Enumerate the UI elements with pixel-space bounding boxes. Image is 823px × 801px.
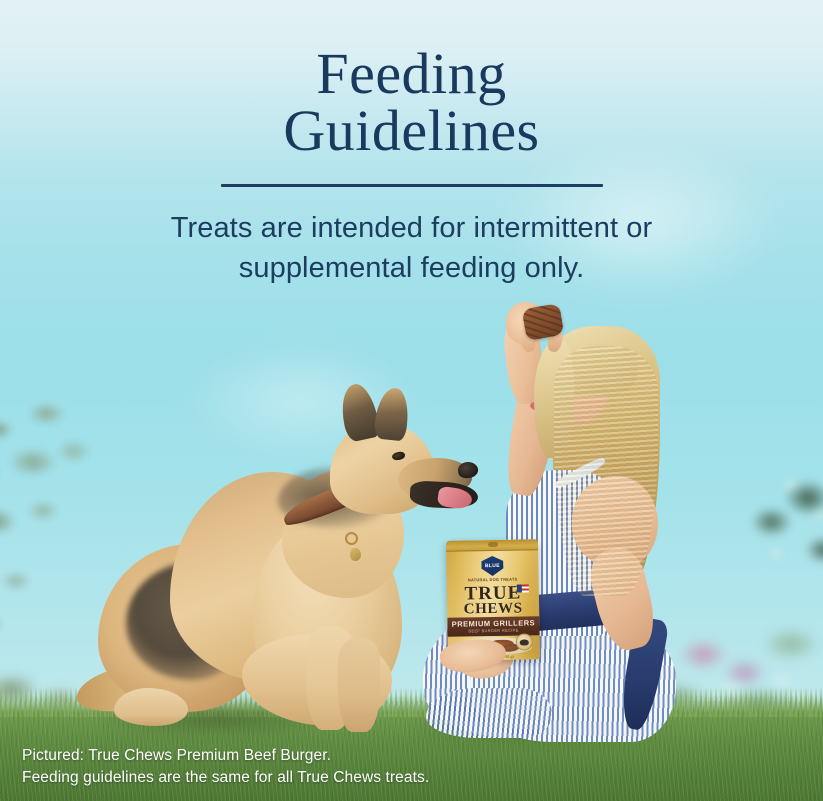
page-subtitle: Treats are intended for intermittent or … <box>0 208 823 288</box>
dog-collar-ring-icon <box>345 532 358 545</box>
blue-brand-shield-icon: BLUE <box>481 556 503 576</box>
caption-line-2: Feeding guidelines are the same for all … <box>22 767 429 789</box>
usa-flag-icon <box>517 584 529 592</box>
dog-ear-right <box>373 386 410 441</box>
woman-figure <box>430 300 730 740</box>
package-hang-hole-icon <box>488 542 498 547</box>
title-divider <box>221 184 603 187</box>
caption-line-1: Pictured: True Chews Premium Beef Burger… <box>22 745 429 767</box>
dog-collar-tag-icon <box>350 548 361 561</box>
brand-shield-label: BLUE <box>485 563 500 569</box>
foliage-right-icon <box>717 462 823 662</box>
dog-front-leg-second <box>338 638 380 732</box>
woman-crossed-legs <box>426 688 552 738</box>
german-shepherd-dog <box>92 366 442 732</box>
page-title: Feeding Guidelines <box>0 46 823 160</box>
image-caption: Pictured: True Chews Premium Beef Burger… <box>22 745 429 789</box>
feeding-guidelines-banner: Feeding Guidelines Treats are intended f… <box>0 0 823 801</box>
page-title-line-2: Guidelines <box>0 103 823 160</box>
dog-ear-left <box>337 381 382 443</box>
page-title-line-1: Feeding <box>0 46 823 103</box>
page-subtitle-line-2: supplemental feeding only. <box>0 248 823 288</box>
package-top-seal <box>446 539 538 552</box>
page-subtitle-line-1: Treats are intended for intermittent or <box>0 208 823 248</box>
woman-hair-strands <box>554 346 658 596</box>
headline-block: Feeding Guidelines Treats are intended f… <box>0 46 823 288</box>
